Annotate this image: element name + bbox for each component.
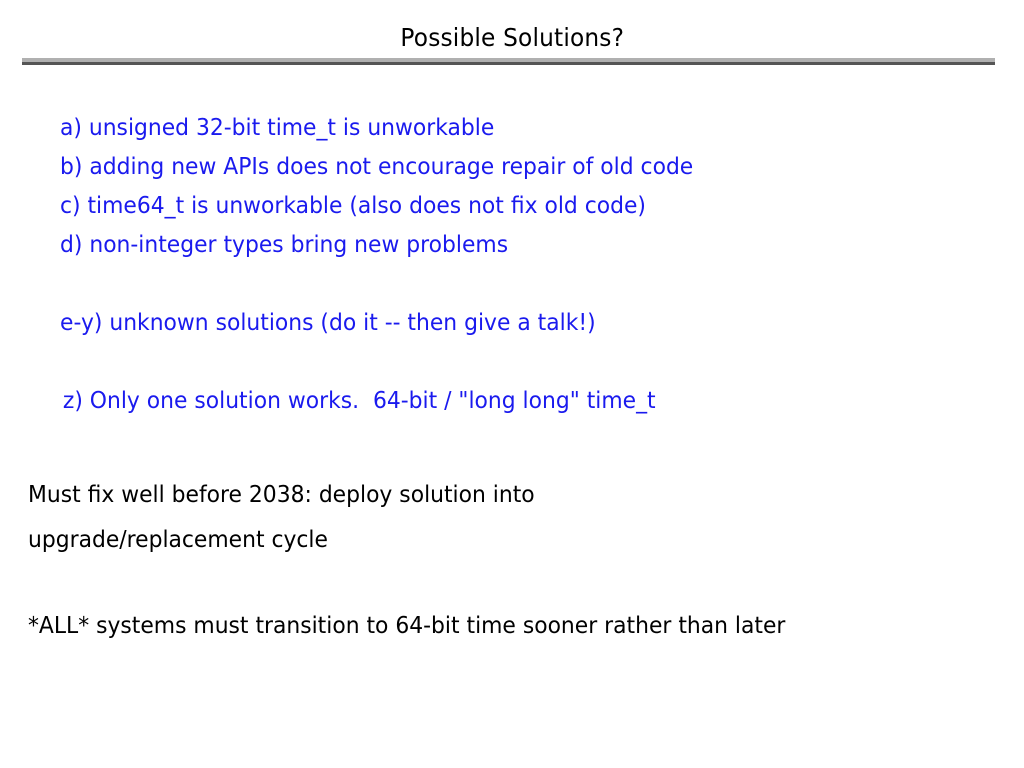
conclusion-text-block: Must fix well before 2038: deploy soluti… <box>28 473 1008 649</box>
solution-item-e-y: e-y) unknown solutions (do it -- then gi… <box>60 304 944 343</box>
conclusion-paragraph-1-line-1: Must fix well before 2038: deploy soluti… <box>28 473 959 518</box>
solution-item-d: d) non-integer types bring new problems <box>60 226 944 265</box>
slide-title-area: Possible Solutions? <box>0 24 1024 52</box>
presentation-slide: Possible Solutions? a) unsigned 32-bit t… <box>0 0 1024 768</box>
solutions-list: a) unsigned 32-bit time_t is unworkable … <box>60 109 990 421</box>
conclusion-paragraph-2-line-1: *ALL* systems must transition to 64-bit … <box>28 604 959 649</box>
solution-item-b: b) adding new APIs does not encourage re… <box>60 148 944 187</box>
page-title: Possible Solutions? <box>400 24 624 52</box>
conclusion-paragraph-1-line-2: upgrade/replacement cycle <box>28 518 959 563</box>
title-divider-rule <box>22 58 995 65</box>
solution-item-c: c) time64_t is unworkable (also does not… <box>60 187 944 226</box>
solution-item-a: a) unsigned 32-bit time_t is unworkable <box>60 109 944 148</box>
divider-dark-band <box>22 62 995 65</box>
solution-item-z: z) Only one solution works. 64-bit / "lo… <box>60 382 944 421</box>
